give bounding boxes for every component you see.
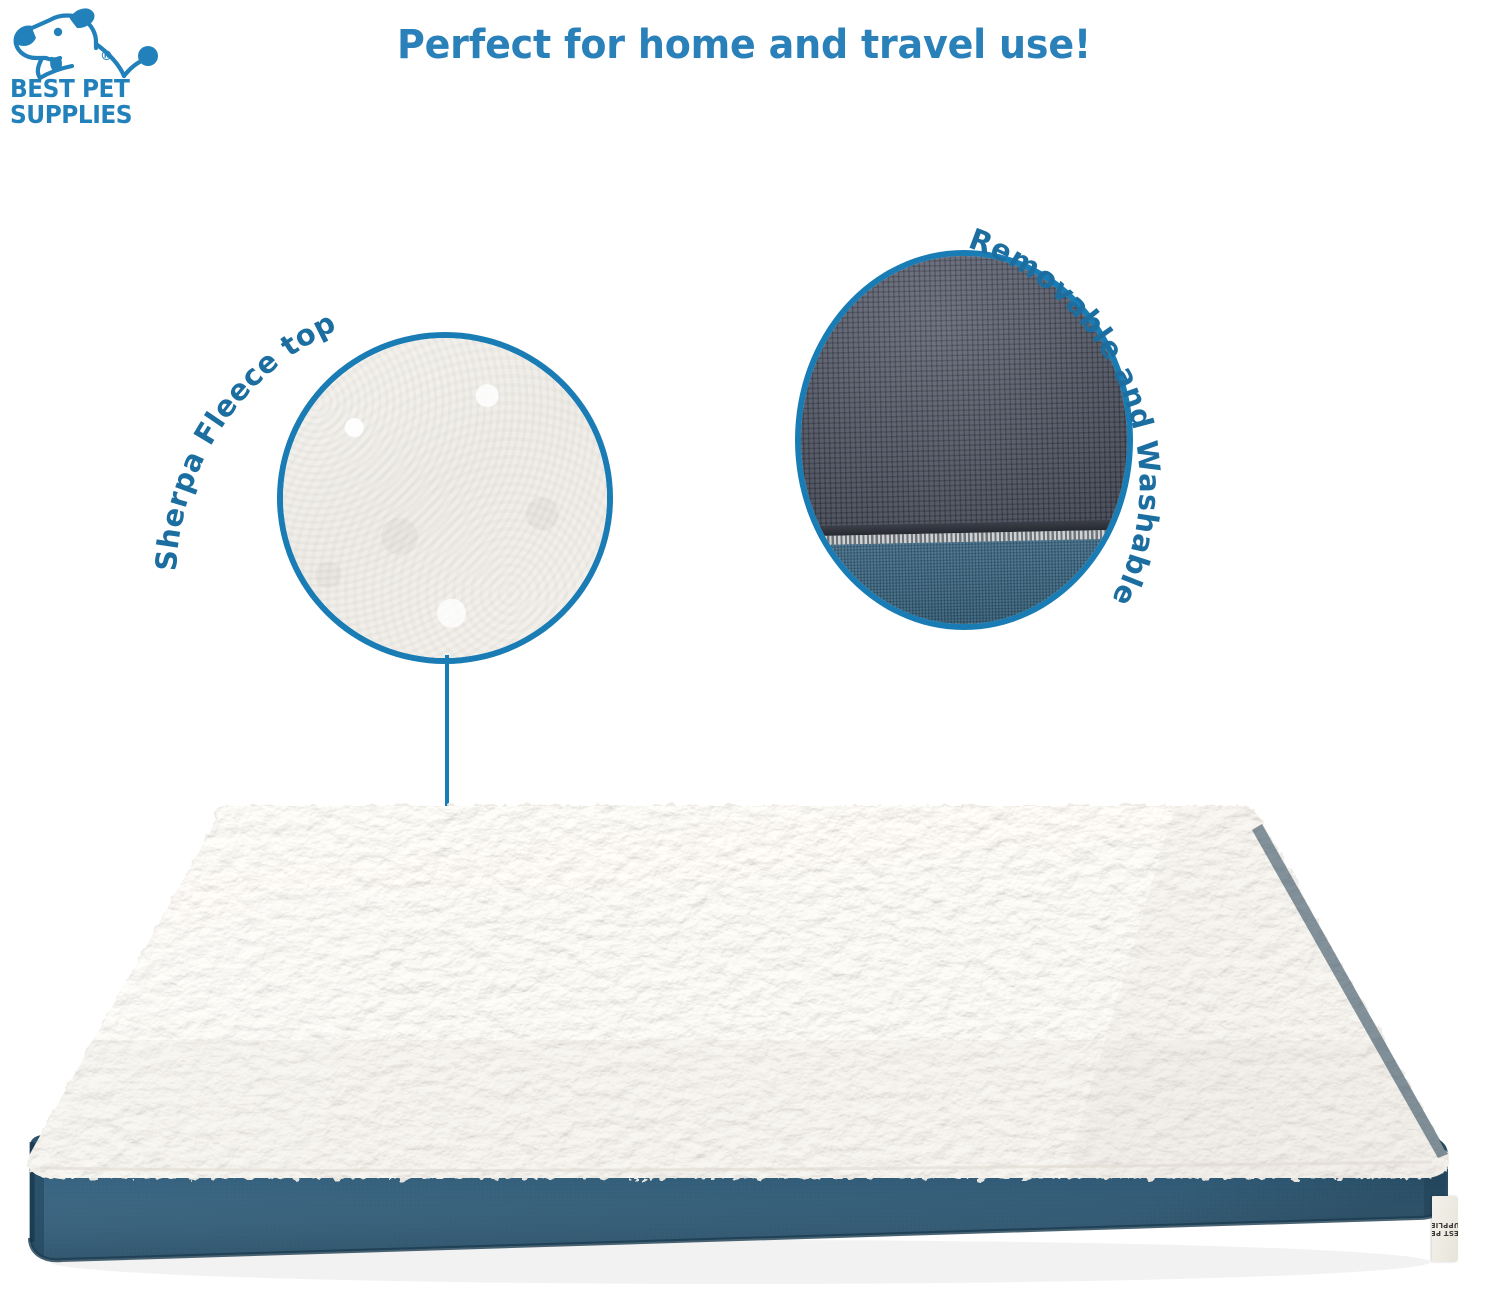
brand-name-line1: BEST PET	[10, 76, 129, 102]
product-feature-graphic: ® BEST PET SUPPLIES Perfect for home and…	[0, 0, 1488, 1300]
callout-label-right: Removable and Washable cover	[750, 158, 1167, 623]
callout-sherpa-fleece-top: Sherpa Fleece top	[150, 250, 650, 680]
care-tag: BEST PET SUPPLIES	[1432, 1196, 1458, 1262]
callout-removable-washable-cover: Removable and Washable cover	[760, 185, 1320, 655]
callout-label-left: Sherpa Fleece top	[149, 305, 341, 572]
callout-label-right-arc: Removable and Washable cover	[760, 185, 1320, 655]
care-tag-text: BEST PET SUPPLIES	[1432, 1221, 1458, 1237]
care-tag-line1: BEST PET	[1432, 1229, 1458, 1237]
brand-name-line2: SUPPLIES	[10, 102, 132, 128]
pet-bed-product-image	[0, 790, 1488, 1300]
care-tag-line2: SUPPLIES	[1432, 1221, 1458, 1229]
callout-label-left-arc: Sherpa Fleece top	[150, 250, 650, 680]
headline-text: Perfect for home and travel use!	[37, 22, 1451, 68]
